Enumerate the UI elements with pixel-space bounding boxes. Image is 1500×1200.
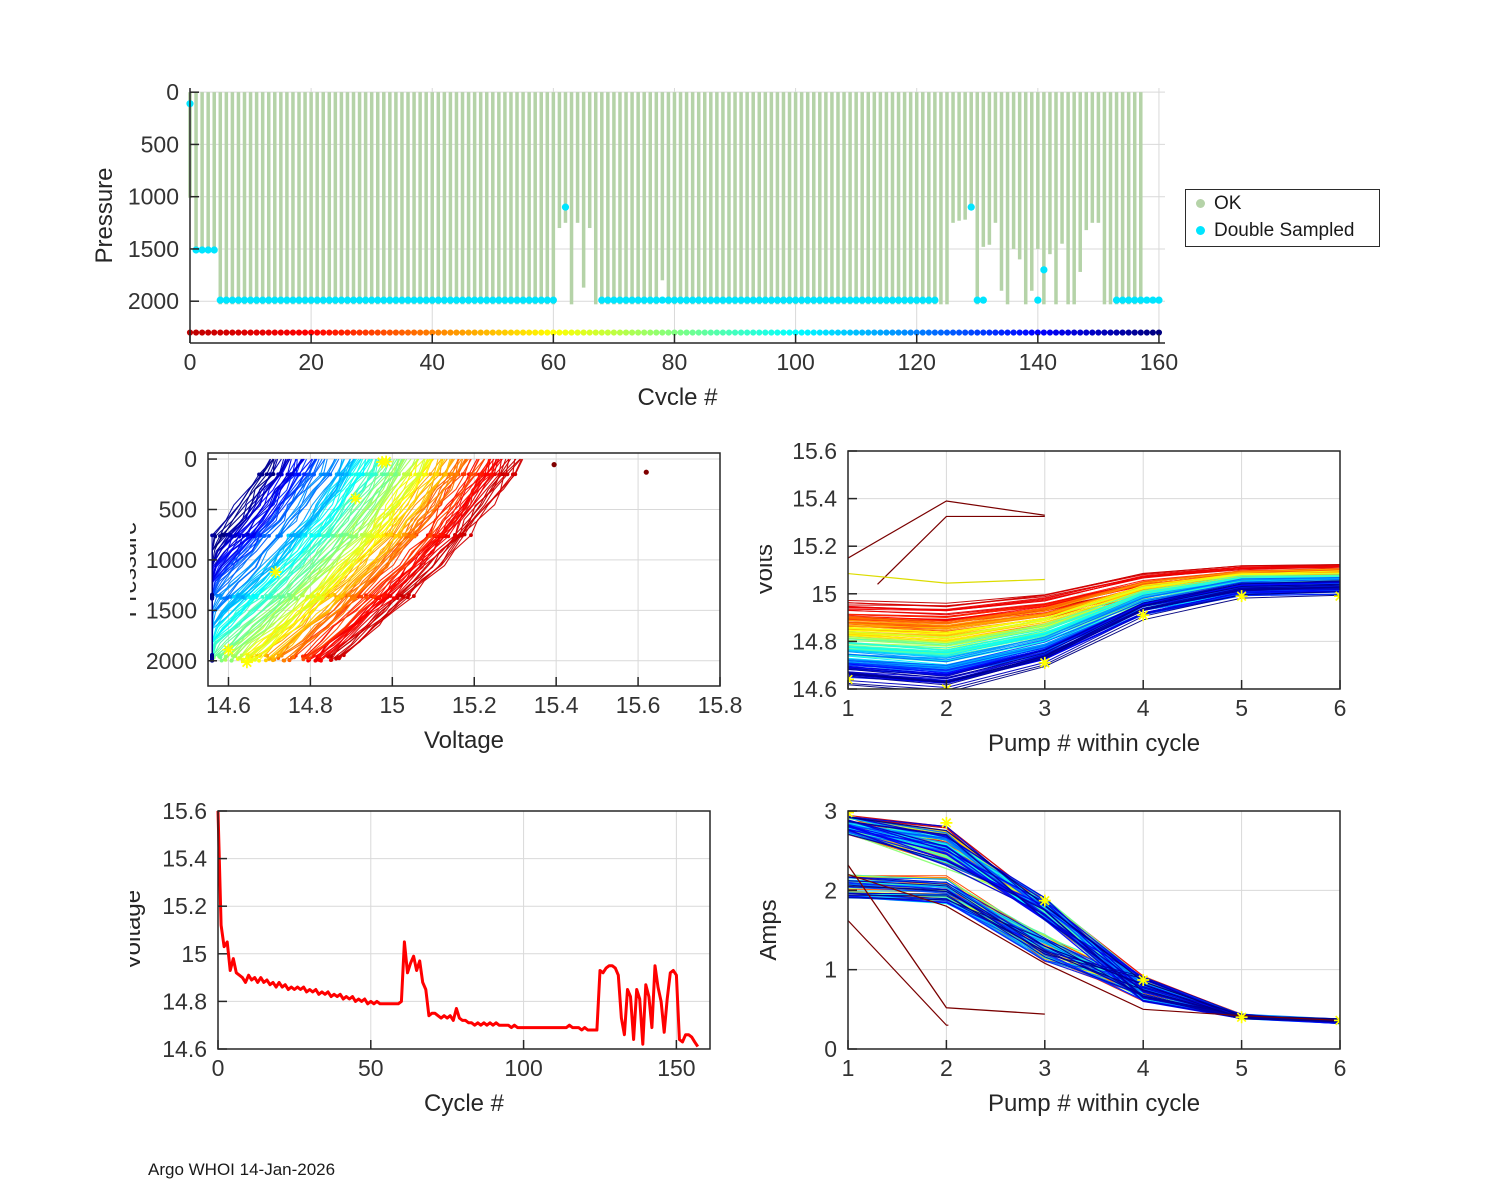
svg-text:Pressure: Pressure [130,521,142,617]
footer-text: Argo WHOI 14-Jan-2026 [148,1160,335,1180]
svg-text:3: 3 [1038,1055,1051,1081]
svg-text:500: 500 [159,496,197,522]
axes-ascent-pump-voltage: 050010001500200014.614.81515.215.415.615… [130,418,750,768]
svg-text:0: 0 [212,1055,225,1081]
svg-text:15.4: 15.4 [162,846,207,872]
svg-text:Pump # within cycle: Pump # within cycle [988,730,1200,757]
axes-pump-voltage: 14.614.81515.215.415.6123456Pump # withi… [760,418,1380,768]
svg-text:1: 1 [824,957,837,983]
svg-text:4: 4 [1137,695,1150,721]
svg-text:1000: 1000 [128,184,179,210]
double-sampled-dot-icon [1196,226,1205,235]
svg-text:100: 100 [504,1055,542,1081]
svg-text:14.6: 14.6 [162,1036,207,1062]
svg-text:Cycle #: Cycle # [424,1090,505,1117]
svg-text:5: 5 [1235,1055,1248,1081]
svg-text:6: 6 [1334,1055,1347,1081]
panel-pump-current: 8966: Pump current 0123123456Pump # with… [760,778,1380,1128]
svg-text:15.4: 15.4 [534,692,579,718]
svg-text:14.6: 14.6 [206,692,251,718]
panel-ascent-pump-voltage: 8966: Ascent Pump voltage 05001000150020… [130,418,750,768]
axes-suspect-ctd-samples: 0500100015002000020406080100120140160Cyc… [0,55,1200,405]
svg-text:2: 2 [940,695,953,721]
svg-text:20: 20 [298,349,324,375]
svg-text:2: 2 [824,877,837,903]
svg-text:60: 60 [541,349,567,375]
svg-text:Pressure: Pressure [91,167,118,263]
svg-text:14.8: 14.8 [162,988,207,1014]
svg-text:0: 0 [184,446,197,472]
svg-text:2000: 2000 [128,288,179,314]
svg-text:4: 4 [1137,1055,1150,1081]
svg-text:0: 0 [824,1036,837,1062]
svg-text:1500: 1500 [146,597,197,623]
legend-entry-double-sampled[interactable]: Double Sampled [1186,217,1379,244]
legend-suspect-ctd: OK Double Sampled [1185,189,1380,247]
svg-text:2: 2 [940,1055,953,1081]
svg-text:14.8: 14.8 [288,692,333,718]
svg-text:15.6: 15.6 [162,798,207,824]
svg-text:100: 100 [776,349,814,375]
svg-text:150: 150 [657,1055,695,1081]
legend-label-double-sampled: Double Sampled [1214,220,1354,242]
svg-text:Voltage: Voltage [424,727,504,754]
svg-text:Pump # within cycle: Pump # within cycle [988,1090,1200,1117]
svg-text:500: 500 [141,131,179,157]
svg-text:15: 15 [181,941,207,967]
svg-text:40: 40 [419,349,445,375]
svg-text:140: 140 [1019,349,1057,375]
svg-text:1000: 1000 [146,547,197,573]
svg-text:Volts: Volts [760,544,778,596]
svg-text:Cycle #: Cycle # [637,384,718,405]
svg-text:14.6: 14.6 [792,676,837,702]
svg-text:0: 0 [166,79,179,105]
svg-text:160: 160 [1140,349,1178,375]
svg-text:15: 15 [811,581,837,607]
svg-text:Amps: Amps [760,899,782,960]
svg-text:50: 50 [358,1055,384,1081]
svg-text:15.2: 15.2 [162,893,207,919]
legend-entry-ok[interactable]: OK [1186,190,1379,217]
svg-text:1: 1 [842,695,855,721]
svg-text:15.2: 15.2 [452,692,497,718]
svg-text:15.6: 15.6 [616,692,661,718]
panel-minimum-ascent-volts: 8966: minimum of (Ascent volts) 14.614.8… [130,778,750,1128]
svg-text:2000: 2000 [146,648,197,674]
axes-minimum-ascent-volts: 14.614.81515.215.415.6050100150Cycle #Vo… [130,778,750,1128]
svg-text:6: 6 [1334,695,1347,721]
svg-text:5: 5 [1235,695,1248,721]
svg-text:0: 0 [184,349,197,375]
svg-text:120: 120 [898,349,936,375]
svg-text:80: 80 [662,349,688,375]
panel-suspect-ctd-samples: 8966: suspect CTD samples 05001000150020… [0,55,1250,405]
panel-pump-voltage: 8966: Pump voltage 14.614.81515.215.415.… [760,418,1380,768]
axes-pump-current: 0123123456Pump # within cycleAmps [760,778,1380,1128]
svg-text:15.2: 15.2 [792,533,837,559]
ok-dot-icon [1196,199,1205,208]
svg-text:3: 3 [1038,695,1051,721]
svg-text:15.8: 15.8 [698,692,743,718]
svg-text:15.6: 15.6 [792,438,837,464]
svg-text:14.8: 14.8 [792,628,837,654]
svg-text:15.4: 15.4 [792,486,837,512]
svg-text:15: 15 [380,692,406,718]
svg-text:1: 1 [842,1055,855,1081]
legend-label-ok: OK [1214,193,1241,215]
svg-text:1500: 1500 [128,236,179,262]
svg-text:3: 3 [824,798,837,824]
svg-text:Voltage: Voltage [130,890,146,970]
